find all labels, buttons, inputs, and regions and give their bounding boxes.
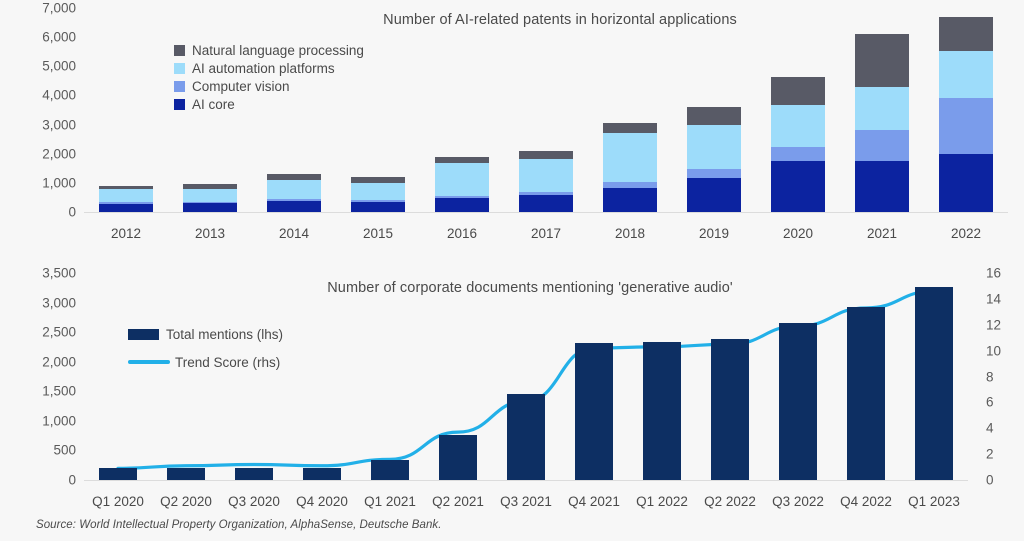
mentions-bar-q2-2021[interactable] [439, 273, 477, 480]
bottom-legend-item-total-mentions: Total mentions (lhs) [128, 328, 283, 342]
top-x-tick-2022: 2022 [951, 226, 981, 241]
bottom-left-y-tick: 500 [53, 444, 76, 458]
top-chart-legend: Natural language processingAI automation… [174, 44, 364, 116]
bottom-legend-label: Total mentions (lhs) [166, 328, 283, 342]
top-legend-label: AI core [192, 98, 235, 112]
legend-swatch-natural-language-processing [174, 45, 185, 56]
patents-segment-computer-vision [855, 130, 909, 161]
bottom-x-tick-q3-2022: Q3 2022 [772, 494, 824, 509]
mentions-bar-fill [439, 435, 477, 480]
patents-bar-2017[interactable] [519, 8, 573, 212]
patents-segment-computer-vision [939, 98, 993, 154]
top-x-baseline [84, 212, 1008, 213]
patents-segment-natural-language-processing [603, 123, 657, 133]
legend-swatch-computer-vision [174, 81, 185, 92]
top-x-tick-2016: 2016 [447, 226, 477, 241]
mentions-bar-fill [643, 342, 681, 480]
bottom-right-y-tick: 16 [986, 266, 1001, 280]
top-y-tick: 0 [68, 205, 76, 219]
legend-swatch-total-mentions [128, 329, 159, 340]
mentions-bar-fill [507, 394, 545, 480]
legend-swatch-ai-core [174, 99, 185, 110]
patents-segment-ai-automation-platforms [267, 180, 321, 198]
top-legend-item-computer-vision: Computer vision [174, 80, 364, 94]
bottom-x-tick-q1-2023: Q1 2023 [908, 494, 960, 509]
patents-segment-ai-core [687, 178, 741, 212]
bottom-right-y-axis: 1614121086420 [976, 250, 1024, 541]
bottom-x-tick-q4-2020: Q4 2020 [296, 494, 348, 509]
patents-segment-ai-core [519, 195, 573, 212]
mentions-bar-q4-2021[interactable] [575, 273, 613, 480]
patents-segment-natural-language-processing [771, 77, 825, 105]
bottom-x-tick-q1-2020: Q1 2020 [92, 494, 144, 509]
mentions-bar-fill [235, 468, 273, 480]
bottom-left-y-tick: 1,000 [42, 414, 76, 428]
top-y-axis: 7,0006,0005,0004,0003,0002,0001,0000 [0, 0, 76, 250]
bottom-right-y-tick: 0 [986, 473, 994, 487]
bottom-right-y-tick: 4 [986, 422, 994, 436]
legend-swatch-trend-score [128, 360, 170, 364]
source-note: Source: World Intellectual Property Orga… [36, 519, 441, 531]
top-y-tick: 7,000 [42, 1, 76, 15]
mentions-bar-q4-2020[interactable] [303, 273, 341, 480]
patents-bar-2016[interactable] [435, 8, 489, 212]
bottom-x-baseline [84, 480, 968, 481]
mentions-bar-fill [847, 307, 885, 480]
patents-bar-2022[interactable] [939, 8, 993, 212]
patents-segment-ai-automation-platforms [687, 125, 741, 169]
bottom-right-y-tick: 14 [986, 292, 1001, 306]
mentions-bar-fill [575, 343, 613, 480]
bottom-left-y-tick: 3,500 [42, 266, 76, 280]
patents-segment-ai-automation-platforms [855, 87, 909, 130]
patents-segment-ai-core [855, 161, 909, 212]
top-y-tick: 4,000 [42, 89, 76, 103]
mentions-bar-q3-2022[interactable] [779, 273, 817, 480]
bottom-x-tick-q2-2022: Q2 2022 [704, 494, 756, 509]
patents-segment-ai-core [99, 204, 153, 212]
top-legend-item-natural-language-processing: Natural language processing [174, 44, 364, 58]
top-legend-label: Natural language processing [192, 44, 364, 58]
patents-bar-2019[interactable] [687, 8, 741, 212]
patents-segment-ai-automation-platforms [939, 51, 993, 97]
patents-segment-natural-language-processing [519, 151, 573, 159]
top-x-tick-2021: 2021 [867, 226, 897, 241]
bottom-legend-item-trend-score: Trend Score (rhs) [128, 356, 283, 370]
top-x-tick-2019: 2019 [699, 226, 729, 241]
top-x-tick-2017: 2017 [531, 226, 561, 241]
patents-segment-ai-core [435, 198, 489, 212]
top-legend-label: AI automation platforms [192, 62, 335, 76]
bottom-left-y-tick: 1,500 [42, 385, 76, 399]
mentions-bar-fill [711, 339, 749, 480]
top-y-tick: 5,000 [42, 60, 76, 74]
patents-bar-2012[interactable] [99, 8, 153, 212]
patents-segment-ai-automation-platforms [99, 189, 153, 202]
mentions-bar-fill [303, 468, 341, 480]
patents-segment-ai-automation-platforms [603, 133, 657, 182]
patents-chart-panel: Number of AI-related patents in horizont… [0, 0, 1024, 250]
bottom-x-tick-q4-2022: Q4 2022 [840, 494, 892, 509]
bottom-right-y-tick: 8 [986, 370, 994, 384]
patents-bar-2021[interactable] [855, 8, 909, 212]
mentions-chart-panel: Number of corporate documents mentioning… [0, 250, 1024, 541]
top-x-tick-2018: 2018 [615, 226, 645, 241]
mentions-bar-q2-2020[interactable] [167, 273, 205, 480]
top-legend-item-ai-core: AI core [174, 98, 364, 112]
bottom-left-y-tick: 2,500 [42, 325, 76, 339]
mentions-bar-fill [99, 468, 137, 480]
mentions-bar-q1-2023[interactable] [915, 273, 953, 480]
patents-segment-computer-vision [771, 147, 825, 160]
bottom-right-y-tick: 6 [986, 396, 994, 410]
top-y-tick: 2,000 [42, 147, 76, 161]
mentions-bar-fill [371, 460, 409, 480]
mentions-bar-q1-2022[interactable] [643, 273, 681, 480]
mentions-bar-q1-2021[interactable] [371, 273, 409, 480]
mentions-bar-q3-2021[interactable] [507, 273, 545, 480]
patents-bar-2018[interactable] [603, 8, 657, 212]
mentions-bar-fill [167, 468, 205, 480]
mentions-bar-q4-2022[interactable] [847, 273, 885, 480]
top-x-tick-2012: 2012 [111, 226, 141, 241]
bottom-left-y-tick: 3,000 [42, 296, 76, 310]
patents-segment-ai-core [771, 161, 825, 212]
top-y-tick: 1,000 [42, 176, 76, 190]
patents-segment-ai-core [183, 203, 237, 212]
bottom-right-y-tick: 2 [986, 447, 994, 461]
bottom-x-tick-q4-2021: Q4 2021 [568, 494, 620, 509]
mentions-bar-q3-2020[interactable] [235, 273, 273, 480]
legend-swatch-ai-automation-platforms [174, 63, 185, 74]
bottom-legend-label: Trend Score (rhs) [175, 356, 280, 370]
mentions-bar-q1-2020[interactable] [99, 273, 137, 480]
patents-segment-ai-automation-platforms [519, 159, 573, 192]
bottom-left-y-axis: 3,5003,0002,5002,0001,5001,0005000 [0, 250, 76, 541]
top-x-tick-2020: 2020 [783, 226, 813, 241]
bottom-x-tick-q3-2021: Q3 2021 [500, 494, 552, 509]
patents-segment-computer-vision [687, 169, 741, 178]
patents-segment-ai-core [351, 202, 405, 212]
top-y-tick: 6,000 [42, 30, 76, 44]
patents-segment-natural-language-processing [687, 107, 741, 124]
mentions-bar-fill [915, 287, 953, 480]
bottom-chart-legend: Total mentions (lhs)Trend Score (rhs) [128, 328, 283, 374]
patents-segment-ai-automation-platforms [771, 105, 825, 147]
patents-segment-ai-core [267, 201, 321, 212]
bottom-right-y-tick: 10 [986, 344, 1001, 358]
bottom-x-tick-q2-2020: Q2 2020 [160, 494, 212, 509]
patents-segment-ai-core [603, 188, 657, 212]
patents-segment-natural-language-processing [939, 17, 993, 51]
top-x-tick-2015: 2015 [363, 226, 393, 241]
top-legend-item-ai-automation-platforms: AI automation platforms [174, 62, 364, 76]
patents-segment-natural-language-processing [855, 34, 909, 87]
bottom-x-tick-q3-2020: Q3 2020 [228, 494, 280, 509]
top-x-tick-2014: 2014 [279, 226, 309, 241]
bottom-left-y-tick: 0 [68, 473, 76, 487]
top-legend-label: Computer vision [192, 80, 290, 94]
patents-segment-ai-automation-platforms [183, 189, 237, 202]
top-x-tick-2013: 2013 [195, 226, 225, 241]
mentions-bar-fill [779, 323, 817, 480]
bottom-x-tick-q2-2021: Q2 2021 [432, 494, 484, 509]
bottom-left-y-tick: 2,000 [42, 355, 76, 369]
top-y-tick: 3,000 [42, 118, 76, 132]
bottom-x-tick-q1-2022: Q1 2022 [636, 494, 688, 509]
mentions-bar-q2-2022[interactable] [711, 273, 749, 480]
bottom-x-tick-q1-2021: Q1 2021 [364, 494, 416, 509]
patents-segment-ai-automation-platforms [351, 183, 405, 200]
patents-segment-ai-core [939, 154, 993, 212]
bottom-plot-area [84, 273, 968, 480]
patents-segment-ai-automation-platforms [435, 163, 489, 195]
bottom-right-y-tick: 12 [986, 318, 1001, 332]
patents-bar-2020[interactable] [771, 8, 825, 212]
